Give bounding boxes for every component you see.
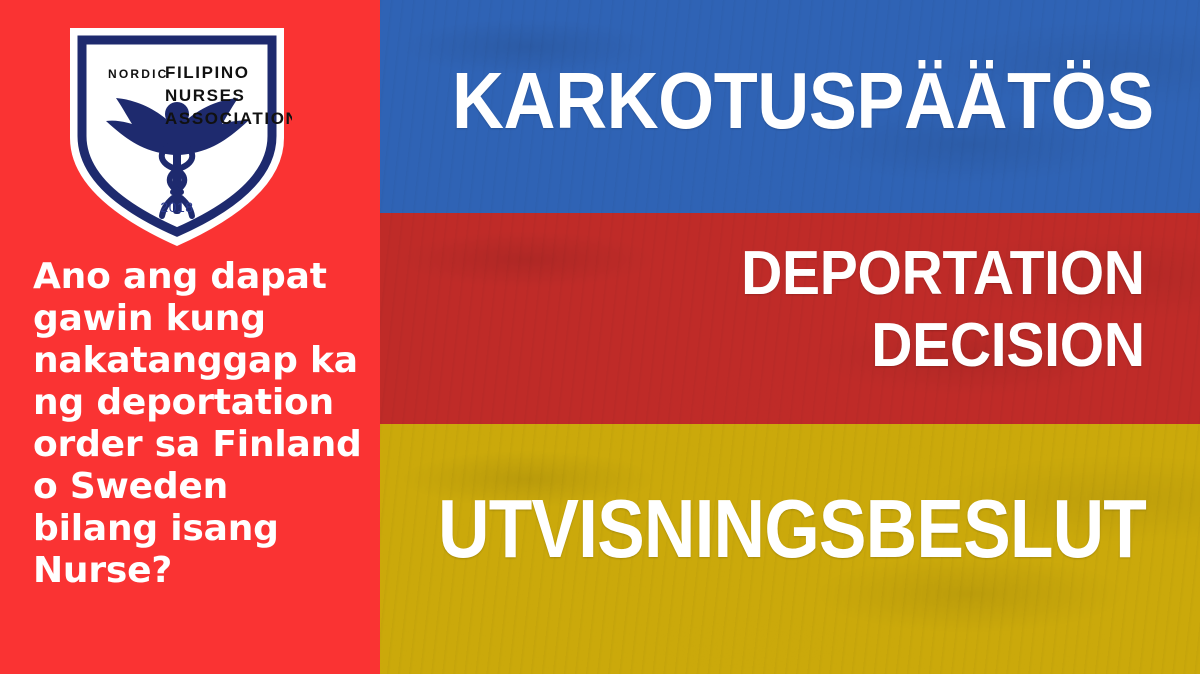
logo-org-line-2: NURSES	[165, 86, 245, 105]
left-panel: NORDIC FILIPINO NURSES ASSOCIATION 2018 …	[0, 0, 380, 674]
logo-nordic-text: NORDIC	[108, 67, 169, 81]
right-panel: KARKOTUSPÄÄTÖS DEPORTATION DECISION UTVI…	[380, 0, 1200, 674]
logo-org-line-1: FILIPINO	[165, 63, 250, 82]
band-label-english: DEPORTATION DECISION	[741, 238, 1145, 382]
logo-year-text: 2018	[160, 199, 193, 215]
logo-org-line-3: ASSOCIATION	[165, 109, 292, 128]
tagalog-headline: Ano ang dapat gawin kung nakatanggap ka …	[33, 256, 363, 592]
band-label-swedish: UTVISNINGSBESLUT	[438, 484, 1146, 574]
band-label-finnish: KARKOTUSPÄÄTÖS	[452, 58, 1154, 144]
organization-logo: NORDIC FILIPINO NURSES ASSOCIATION 2018	[62, 18, 292, 250]
poster-canvas: NORDIC FILIPINO NURSES ASSOCIATION 2018 …	[0, 0, 1200, 674]
